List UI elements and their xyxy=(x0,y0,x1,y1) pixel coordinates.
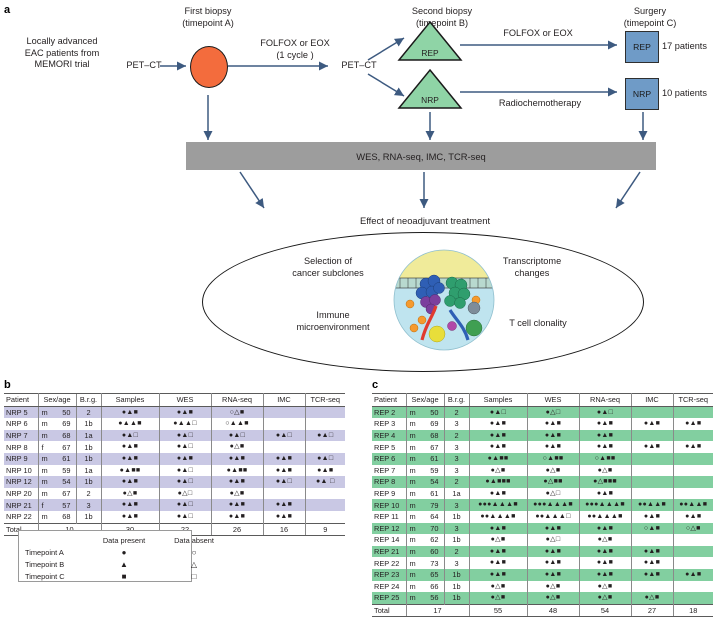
cell-sex: m xyxy=(38,453,54,465)
cell-samples: ●▲□ xyxy=(101,430,159,442)
cell-imc: ●●▲▲■ xyxy=(631,499,673,511)
cell-wes: ●▲□ xyxy=(159,476,211,488)
cell-brg: 1b xyxy=(76,453,101,465)
tumor-microenvironment-illustration xyxy=(392,248,497,353)
cell-wes: ●▲■ xyxy=(527,523,579,535)
cell-sex: f xyxy=(38,499,54,511)
cell-tcrseq xyxy=(305,418,345,430)
cell-rnaseq: ●▲■ xyxy=(579,430,631,442)
cell-sex: m xyxy=(406,476,422,488)
cell-tcrseq xyxy=(305,441,345,453)
cell-wes: ●△■■ xyxy=(527,476,579,488)
cell-sex: m xyxy=(406,499,422,511)
panel-b-nrp-table: b Patient Sex/age B.r.g. Samples WES RNA… xyxy=(4,379,349,536)
cell-brg: 1b xyxy=(76,418,101,430)
cell-imc xyxy=(263,488,305,500)
cell-patient: REP 11 xyxy=(372,511,406,523)
cell-rnaseq: ●●●▲▲▲■ xyxy=(579,499,631,511)
panel-a-letter: a xyxy=(4,4,10,16)
triangle-label-rep: REP xyxy=(412,48,448,60)
total-imc: 27 xyxy=(631,604,673,617)
cell-samples: ●▲■ xyxy=(469,430,527,442)
cell-age: 54 xyxy=(54,476,76,488)
th-samples: Samples xyxy=(101,394,159,407)
surgery-box-rep: REP xyxy=(625,31,659,63)
cell-wes: ●▲▲□ xyxy=(159,418,211,430)
cell-samples: ●▲■ xyxy=(101,499,159,511)
th-imc: IMC xyxy=(631,394,673,407)
cell-tcrseq: ●▲■ xyxy=(673,441,713,453)
cell-wes: ○▲■■ xyxy=(527,453,579,465)
panel-a-study-design: a First biopsy (timepoint A) Second biop… xyxy=(0,0,721,378)
cell-age: 68 xyxy=(54,430,76,442)
legend-symbol-absent: ○ xyxy=(159,548,229,558)
cell-sex: m xyxy=(38,488,54,500)
cell-age: 61 xyxy=(422,488,444,500)
cell-samples: ●▲■ xyxy=(469,569,527,581)
cell-sex: m xyxy=(406,546,422,558)
cell-tcrseq: ●▲□ xyxy=(305,453,345,465)
cell-brg: 3 xyxy=(444,465,469,477)
cell-samples: ●△■ xyxy=(101,488,159,500)
cell-imc: ●▲□ xyxy=(263,430,305,442)
cell-tcrseq: ●▲ □ xyxy=(305,476,345,488)
cell-rnaseq: ●△■■■ xyxy=(579,476,631,488)
cell-patient: REP 23 xyxy=(372,569,406,581)
rep-patients-table: Patient Sex/age B.r.g. Samples WES RNA-s… xyxy=(372,393,713,617)
cell-imc xyxy=(631,453,673,465)
cell-sex: m xyxy=(406,523,422,535)
legend-symbol-present: ● xyxy=(89,548,159,558)
cell-imc xyxy=(631,465,673,477)
cell-imc: ●▲■ xyxy=(263,465,305,477)
cell-patient: REP 2 xyxy=(372,406,406,418)
cell-age: 50 xyxy=(54,406,76,418)
table-row: NRP 5m502●▲■●▲■○△■ xyxy=(4,406,345,418)
cell-rnaseq: ●▲■ xyxy=(211,476,263,488)
cell-patient: NRP 7 xyxy=(4,430,38,442)
cell-tcrseq xyxy=(673,453,713,465)
cell-brg: 1b xyxy=(444,592,469,604)
cell-patient: REP 21 xyxy=(372,546,406,558)
petct-label-1: PET–CT xyxy=(118,60,170,72)
cell-age: 67 xyxy=(422,441,444,453)
legend-corner xyxy=(25,536,89,546)
outcome-immune-microenvironment: Immune microenvironment xyxy=(268,310,398,333)
cell-patient: REP 3 xyxy=(372,418,406,430)
table-row: NRP 12m541b●▲■●▲□●▲■●▲□●▲ □ xyxy=(4,476,345,488)
cell-rnaseq: ●▲■ xyxy=(211,453,263,465)
total-rnaseq: 54 xyxy=(579,604,631,617)
cell-patient: NRP 5 xyxy=(4,406,38,418)
cell-sex: m xyxy=(38,418,54,430)
outcome-cancer-subclones: Selection of cancer subclones xyxy=(268,256,388,279)
cell-brg: 3 xyxy=(444,499,469,511)
cell-wes: ●▲■ xyxy=(527,569,579,581)
table-row: REP 8m542●▲■■■●△■■●△■■■ xyxy=(372,476,713,488)
cell-wes: ●▲■ xyxy=(527,430,579,442)
cell-tcrseq xyxy=(305,488,345,500)
cell-patient: NRP 22 xyxy=(4,511,38,523)
cell-rnaseq: ●▲■ xyxy=(579,557,631,569)
cell-sex: m xyxy=(38,406,54,418)
cell-wes: ●●●▲▲▲■ xyxy=(527,499,579,511)
table-row: NRP 7m681a●▲□●▲□●▲□●▲□●▲□ xyxy=(4,430,345,442)
cell-patient: REP 10 xyxy=(372,499,406,511)
legend-symbol-present: ■ xyxy=(89,572,159,582)
cell-brg: 3 xyxy=(444,418,469,430)
cell-brg: 2 xyxy=(76,406,101,418)
cell-sex: m xyxy=(406,569,422,581)
cell-brg: 1a xyxy=(76,430,101,442)
cell-imc xyxy=(631,406,673,418)
cell-wes: ●△■ xyxy=(527,581,579,593)
cell-sex: m xyxy=(406,441,422,453)
nrp-table-body: NRP 5m502●▲■●▲■○△■NRP 6m691b●▲▲■●▲▲□○▲▲■… xyxy=(4,406,345,536)
cell-samples: ●△■ xyxy=(469,534,527,546)
th-wes: WES xyxy=(159,394,211,407)
cell-rnaseq: ●▲□ xyxy=(579,406,631,418)
cell-brg: 3 xyxy=(76,499,101,511)
cell-imc: ●▲■ xyxy=(631,418,673,430)
cell-imc xyxy=(263,441,305,453)
cell-rnaseq: ●▲■ xyxy=(579,488,631,500)
cell-samples: ●●●▲▲▲■ xyxy=(469,499,527,511)
cell-samples: ●▲■ xyxy=(101,406,159,418)
cell-patient: REP 24 xyxy=(372,581,406,593)
cell-brg: 3 xyxy=(444,453,469,465)
cell-age: 69 xyxy=(422,418,444,430)
cell-brg: 2 xyxy=(444,406,469,418)
cell-sex: m xyxy=(406,534,422,546)
cell-imc: ●▲■ xyxy=(263,453,305,465)
legend-label: Timepoint A xyxy=(25,548,89,558)
cell-tcrseq xyxy=(305,406,345,418)
treatment-label-nrp-arm: Radiochemotherapy xyxy=(460,98,620,110)
cell-wes: ●▲□ xyxy=(159,511,211,523)
cell-rnaseq: ●▲■■ xyxy=(211,465,263,477)
cell-patient: NRP 9 xyxy=(4,453,38,465)
cell-patient: REP 25 xyxy=(372,592,406,604)
cell-wes: ●△□ xyxy=(527,488,579,500)
cell-age: 54 xyxy=(422,476,444,488)
cell-rnaseq: ●▲■ xyxy=(579,523,631,535)
cell-tcrseq xyxy=(673,592,713,604)
treatment-label-rep-arm: FOLFOX or EOX xyxy=(468,28,608,40)
cell-age: 56 xyxy=(422,592,444,604)
cell-age: 61 xyxy=(54,453,76,465)
cell-tcrseq xyxy=(673,488,713,500)
table-row: REP 22m733●▲■●▲■●▲■●▲■ xyxy=(372,557,713,569)
cell-rnaseq: ●●▲▲▲■ xyxy=(579,511,631,523)
cell-brg: 1b xyxy=(444,569,469,581)
cell-samples: ●▲■ xyxy=(101,476,159,488)
cell-tcrseq xyxy=(673,534,713,546)
table-row: REP 25m561b●△■●△■●△■●△■ xyxy=(372,592,713,604)
cell-patient: NRP 20 xyxy=(4,488,38,500)
table-row: NRP 10m591a●▲■■●▲□●▲■■●▲■●▲■ xyxy=(4,465,345,477)
cell-tcrseq: ●▲□ xyxy=(305,430,345,442)
nrp-patients-table: Patient Sex/age B.r.g. Samples WES RNA-s… xyxy=(4,393,345,536)
cell-samples: ●▲■■ xyxy=(101,465,159,477)
cell-age: 79 xyxy=(422,499,444,511)
cell-tcrseq xyxy=(673,581,713,593)
cell-brg: 2 xyxy=(444,476,469,488)
cell-age: 59 xyxy=(54,465,76,477)
cell-wes: ●▲□ xyxy=(159,430,211,442)
table-row: REP 23m651b●▲■●▲■●▲■●▲■●▲■ xyxy=(372,569,713,581)
cell-rnaseq: ●▲□ xyxy=(211,430,263,442)
cell-rnaseq: ●△■ xyxy=(579,581,631,593)
cell-imc: ●▲■ xyxy=(631,569,673,581)
cell-wes: ●▲□ xyxy=(159,465,211,477)
th-samples: Samples xyxy=(469,394,527,407)
cell-samples: ●●▲▲▲■ xyxy=(469,511,527,523)
cell-age: 50 xyxy=(422,406,444,418)
treatment-label-cycle1: FOLFOX or EOX (1 cycle ) xyxy=(230,38,360,61)
table-row: REP 4m682●▲■●▲■●▲■ xyxy=(372,430,713,442)
cell-wes: ●△□ xyxy=(159,488,211,500)
cell-patient: NRP 12 xyxy=(4,476,38,488)
legend-symbol-present: ▲ xyxy=(89,560,159,570)
legend-header-present: Data present xyxy=(89,536,159,546)
cell-rnaseq: ○▲▲■ xyxy=(211,418,263,430)
cell-rnaseq: ●△■ xyxy=(211,488,263,500)
cell-samples: ●▲■ xyxy=(469,523,527,535)
cell-rnaseq: ●△■ xyxy=(579,534,631,546)
cell-wes: ●△□ xyxy=(527,406,579,418)
cell-samples: ●▲■ xyxy=(469,418,527,430)
cell-patient: REP 9 xyxy=(372,488,406,500)
cell-imc: ●▲■ xyxy=(631,441,673,453)
petct-label-2: PET–CT xyxy=(333,60,385,72)
total-patients: 17 xyxy=(406,604,469,617)
cell-age: 59 xyxy=(422,465,444,477)
cell-patient: REP 12 xyxy=(372,523,406,535)
cell-tcrseq: ●▲■ xyxy=(673,511,713,523)
table-row: NRP 22m681b●▲■●▲□●▲■●▲■ xyxy=(4,511,345,523)
cell-samples: ●△■ xyxy=(469,465,527,477)
triangle-label-nrp: NRP xyxy=(412,95,448,107)
th-tcrseq: TCR-seq xyxy=(673,394,713,407)
cell-tcrseq xyxy=(305,511,345,523)
cell-imc xyxy=(631,488,673,500)
cell-age: 67 xyxy=(54,441,76,453)
table-row: REP 2m502●▲□●△□●▲□ xyxy=(372,406,713,418)
cell-samples: ●△■ xyxy=(469,592,527,604)
cell-imc xyxy=(631,581,673,593)
th-rnaseq: RNA-seq xyxy=(579,394,631,407)
total-rnaseq: 26 xyxy=(211,523,263,536)
cell-imc: ●▲■ xyxy=(631,557,673,569)
cell-age: 73 xyxy=(422,557,444,569)
th-sex-age: Sex/age xyxy=(38,394,76,407)
table-row: REP 24m661b●△■●△■●△■ xyxy=(372,581,713,593)
surgery-box-nrp: NRP xyxy=(625,78,659,110)
total-samples: 55 xyxy=(469,604,527,617)
th-brg: B.r.g. xyxy=(444,394,469,407)
cell-imc: ●▲□ xyxy=(263,476,305,488)
table-row: REP 12m703●▲■●▲■●▲■○▲■○△■ xyxy=(372,523,713,535)
cell-patient: REP 22 xyxy=(372,557,406,569)
cell-brg: 1b xyxy=(444,534,469,546)
cell-brg: 3 xyxy=(444,557,469,569)
cell-sex: m xyxy=(406,488,422,500)
panel-c-letter: c xyxy=(372,379,717,391)
cell-samples: ●▲□ xyxy=(469,406,527,418)
panel-c-rep-table: c Patient Sex/age B.r.g. Samples WES RNA… xyxy=(372,379,717,617)
cell-rnaseq: ●▲■ xyxy=(579,546,631,558)
cell-samples: ●▲■ xyxy=(469,441,527,453)
effect-title: Effect of neoadjuvant treatment xyxy=(310,215,540,227)
cell-age: 67 xyxy=(54,488,76,500)
total-label: Total xyxy=(372,604,406,617)
symbol-legend: Data presentData absentTimepoint A●○Time… xyxy=(18,530,192,582)
cell-tcrseq: ●▲■ xyxy=(305,465,345,477)
cell-rnaseq: ●△■ xyxy=(579,465,631,477)
cell-age: 64 xyxy=(422,511,444,523)
table-row: REP 9m611a●▲■●△□●▲■ xyxy=(372,488,713,500)
assays-bar: WES, RNA-seq, IMC, TCR-seq xyxy=(186,142,656,170)
cell-rnaseq: ○△■ xyxy=(211,406,263,418)
cell-wes: ●▲■ xyxy=(527,546,579,558)
cell-sex: m xyxy=(406,418,422,430)
cell-wes: ●△■ xyxy=(527,592,579,604)
cell-imc xyxy=(263,418,305,430)
cell-age: 68 xyxy=(422,430,444,442)
legend-header-absent: Data absent xyxy=(159,536,229,546)
th-sex-age: Sex/age xyxy=(406,394,444,407)
cell-patient: NRP 21 xyxy=(4,499,38,511)
cell-age: 70 xyxy=(422,523,444,535)
table-row: NRP 21f573●▲■●▲□●▲■●▲■ xyxy=(4,499,345,511)
cell-tcrseq xyxy=(673,465,713,477)
cell-sex: m xyxy=(406,581,422,593)
cell-wes: ●△□ xyxy=(527,534,579,546)
th-imc: IMC xyxy=(263,394,305,407)
th-rnaseq: RNA-seq xyxy=(211,394,263,407)
cell-tcrseq: ●●▲▲■ xyxy=(673,499,713,511)
cell-samples: ●▲■ xyxy=(469,488,527,500)
cell-rnaseq: ●▲■ xyxy=(579,441,631,453)
cell-brg: 1b xyxy=(76,441,101,453)
cell-patient: REP 5 xyxy=(372,441,406,453)
cell-wes: ●▲■ xyxy=(159,406,211,418)
cell-imc: ●▲■ xyxy=(631,511,673,523)
rep-patient-count: 17 patients xyxy=(662,41,721,53)
first-biopsy-heading: First biopsy (timepoint A) xyxy=(148,6,268,29)
cell-brg: 1b xyxy=(444,581,469,593)
cell-age: 66 xyxy=(422,581,444,593)
cell-sex: f xyxy=(38,441,54,453)
table-row: NRP 6m691b●▲▲■●▲▲□○▲▲■ xyxy=(4,418,345,430)
cell-patient: REP 4 xyxy=(372,430,406,442)
cell-brg: 3 xyxy=(444,523,469,535)
cell-age: 60 xyxy=(422,546,444,558)
cell-patient: NRP 10 xyxy=(4,465,38,477)
cell-brg: 2 xyxy=(76,488,101,500)
cell-sex: m xyxy=(406,465,422,477)
cell-wes: ●▲□ xyxy=(159,499,211,511)
cell-wes: ●▲■ xyxy=(159,453,211,465)
cell-brg: 1b xyxy=(76,476,101,488)
cell-brg: 1b xyxy=(76,511,101,523)
cohort-description: Locally advanced EAC patients from MEMOR… xyxy=(8,36,116,71)
table-row: REP 14m621b●△■●△□●△■ xyxy=(372,534,713,546)
cell-imc xyxy=(631,476,673,488)
legend-label: Timepoint C xyxy=(25,572,89,582)
table-row: REP 10m793●●●▲▲▲■●●●▲▲▲■●●●▲▲▲■●●▲▲■●●▲▲… xyxy=(372,499,713,511)
table-row: REP 21m602●▲■●▲■●▲■●▲■ xyxy=(372,546,713,558)
cell-sex: m xyxy=(38,511,54,523)
cell-age: 65 xyxy=(422,569,444,581)
cell-imc: ●▲■ xyxy=(263,499,305,511)
legend-symbol-absent: △ xyxy=(159,560,229,570)
cell-patient: NRP 8 xyxy=(4,441,38,453)
cell-brg: 1a xyxy=(444,488,469,500)
cell-wes: ●▲■ xyxy=(527,557,579,569)
cell-imc: ○▲■ xyxy=(631,523,673,535)
cell-age: 69 xyxy=(54,418,76,430)
cell-wes: ●●▲▲▲□ xyxy=(527,511,579,523)
cell-imc: ●▲■ xyxy=(263,511,305,523)
cell-tcrseq xyxy=(673,430,713,442)
cell-tcrseq xyxy=(673,546,713,558)
cell-sex: m xyxy=(406,453,422,465)
cell-brg: 2 xyxy=(444,430,469,442)
cell-samples: ●▲■ xyxy=(101,453,159,465)
rep-table-body: REP 2m502●▲□●△□●▲□REP 3m693●▲■●▲■●▲■●▲■●… xyxy=(372,406,713,617)
cell-brg: 3 xyxy=(444,441,469,453)
cell-tcrseq xyxy=(673,406,713,418)
cell-patient: REP 14 xyxy=(372,534,406,546)
cell-imc: ●△■ xyxy=(631,592,673,604)
legend-label: Timepoint B xyxy=(25,560,89,570)
cell-sex: m xyxy=(406,511,422,523)
cell-imc xyxy=(631,534,673,546)
cell-rnaseq: ●▲■ xyxy=(579,569,631,581)
cell-age: 61 xyxy=(422,453,444,465)
cell-samples: ●▲■ xyxy=(469,546,527,558)
second-biopsy-heading: Second biopsy (timepoint B) xyxy=(382,6,502,29)
cell-wes: ●▲■ xyxy=(527,441,579,453)
cell-rnaseq: ●△■ xyxy=(211,441,263,453)
cell-tcrseq: ●▲■ xyxy=(673,418,713,430)
cell-patient: REP 7 xyxy=(372,465,406,477)
table-row: NRP 8f671b●▲■●▲□●△■ xyxy=(4,441,345,453)
cell-sex: m xyxy=(406,557,422,569)
cell-sex: m xyxy=(38,476,54,488)
table-row: NRP 9m611b●▲■●▲■●▲■●▲■●▲□ xyxy=(4,453,345,465)
cell-wes: ●△■ xyxy=(527,465,579,477)
total-tcrseq: 9 xyxy=(305,523,345,536)
cell-patient: NRP 6 xyxy=(4,418,38,430)
table-row: NRP 20m672●△■●△□●△■ xyxy=(4,488,345,500)
cell-wes: ●▲□ xyxy=(159,441,211,453)
cell-tcrseq: ○△■ xyxy=(673,523,713,535)
table-row: REP 7m593●△■●△■●△■ xyxy=(372,465,713,477)
total-wes: 48 xyxy=(527,604,579,617)
table-header-row: Patient Sex/age B.r.g. Samples WES RNA-s… xyxy=(4,394,345,407)
th-patient: Patient xyxy=(372,394,406,407)
cell-sex: m xyxy=(38,465,54,477)
cell-samples: ●▲▲■ xyxy=(101,418,159,430)
table-row: REP 6m613●▲■■○▲■■○▲■■ xyxy=(372,453,713,465)
cell-age: 57 xyxy=(54,499,76,511)
cell-tcrseq xyxy=(673,476,713,488)
cell-tcrseq: ●▲■ xyxy=(673,569,713,581)
cell-samples: ●▲■ xyxy=(469,557,527,569)
